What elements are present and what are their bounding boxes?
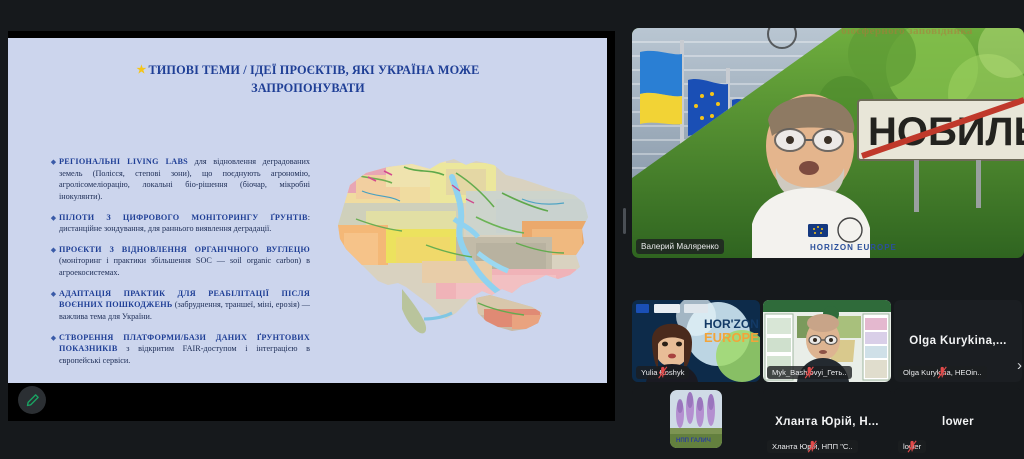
zoom-meeting-window: ★ТИПОВІ ТЕМИ / ІДЕЇ ПРОЄКТІВ, ЯКІ УКРАЇН… <box>0 0 1024 459</box>
screen-share-pane[interactable]: ★ТИПОВІ ТЕМИ / ІДЕЇ ПРОЄКТІВ, ЯКІ УКРАЇН… <box>0 0 625 459</box>
bullet-lead: ПІЛОТИ З ЦИФРОВОГО МОНІТОРИНГУ ҐРУНТІВ <box>59 213 308 222</box>
slide-title-line2: ЗАПРОПОНУВАТИ <box>251 81 365 95</box>
participant-tile-olga-kurykina[interactable]: Olga Kurykina,... Olga Kurykina, HEOin.. <box>894 300 1022 382</box>
list-item: ◆ СТВОРЕННЯ ПЛАТФОРМИ/БАЗИ ДАНИХ ҐРУНТОВ… <box>48 332 310 367</box>
presentation-slide[interactable]: ★ТИПОВІ ТЕМИ / ІДЕЇ ПРОЄКТІВ, ЯКІ УКРАЇН… <box>8 38 607 383</box>
active-speaker-name-chip: Валерий Маляренко <box>636 239 724 254</box>
active-speaker-name: Валерий Маляренко <box>641 241 719 252</box>
participant-display-name: Хланта Юрій, Н... <box>763 416 891 428</box>
participant-name-chip: Yulia Koshyk <box>636 366 689 379</box>
mic-off-icon <box>898 366 987 379</box>
participant-name-chip: Хланта Юрій, НПП "С.. <box>767 440 858 453</box>
bullet-dot-icon: ◆ <box>48 244 59 279</box>
pen-annotate-icon[interactable] <box>18 386 46 414</box>
list-item: ◆ РЕГІОНАЛЬНІ LIVING LABS для відновленн… <box>48 156 310 203</box>
bullet-dot-icon: ◆ <box>48 332 59 367</box>
active-speaker-tile[interactable]: НОБИЛЬ H <box>632 28 1024 258</box>
participant-tile-khlanta-yurii[interactable]: Хланта Юрій, Н... Хланта Юрій, НПП "С.. <box>763 388 891 456</box>
pane-divider-handle[interactable] <box>623 208 626 234</box>
chevron-right-icon[interactable]: › <box>1017 358 1022 373</box>
participant-name-chip: lower <box>898 440 926 453</box>
participant-tile-myk-bashtovyi[interactable]: Myk_Bashtovyi_Геть.. <box>763 300 891 382</box>
slide-bullet-list: ◆ РЕГІОНАЛЬНІ LIVING LABS для відновленн… <box>48 156 310 376</box>
list-item: ◆ АДАПТАЦІЯ ПРАКТИК ДЛЯ РЕАБІЛІТАЦІЇ ПІС… <box>48 288 310 323</box>
bullet-dot-icon: ◆ <box>48 212 59 235</box>
bullet-rest: (моніторинг і практики збільшення SOC — … <box>59 256 310 277</box>
mic-off-icon <box>636 366 689 379</box>
mic-off-icon <box>767 366 852 379</box>
participant-tile-lower[interactable]: lower lower <box>894 388 1022 456</box>
bullet-lead: ПРОЄКТИ З ВІДНОВЛЕННЯ ОРГАНІЧНОГО ВУГЛЕЦ… <box>59 245 310 254</box>
slide-title: ★ТИПОВІ ТЕМИ / ІДЕЇ ПРОЄКТІВ, ЯКІ УКРАЇН… <box>52 62 564 98</box>
participant-tile-connecting-audio[interactable]: НПП ГАЛИЧ <box>632 388 760 456</box>
avatar: НПП ГАЛИЧ <box>670 390 722 448</box>
bullet-dot-icon: ◆ <box>48 288 59 323</box>
mic-off-icon <box>898 440 926 453</box>
participant-tile-yulia-koshyk[interactable]: HOR'ZON EUROPE Yulia Koshyk <box>632 300 760 382</box>
ukraine-soil-map-image <box>326 133 598 348</box>
speaker-background-overlay-text: біосферного заповідника <box>792 28 1022 37</box>
participant-display-name: lower <box>894 416 1022 428</box>
bullet-dot-icon: ◆ <box>48 156 59 203</box>
list-item: ◆ ПРОЄКТИ З ВІДНОВЛЕННЯ ОРГАНІЧНОГО ВУГЛ… <box>48 244 310 279</box>
video-participants-pane: НОБИЛЬ H <box>630 0 1024 459</box>
list-item: ◆ ПІЛОТИ З ЦИФРОВОГО МОНІТОРИНГУ ҐРУНТІВ… <box>48 212 310 235</box>
slide-title-line1: ТИПОВІ ТЕМИ / ІДЕЇ ПРОЄКТІВ, ЯКІ УКРАЇНА… <box>148 63 479 77</box>
svg-text:HORIZON EUROPE: HORIZON EUROPE <box>810 243 897 252</box>
svg-text:EUROPE: EUROPE <box>704 330 759 345</box>
participant-name-chip: Olga Kurykina, HEOin.. <box>898 366 987 379</box>
participant-name-chip: Myk_Bashtovyi_Геть.. <box>767 366 852 379</box>
participant-display-name: Olga Kurykina,... <box>894 335 1022 347</box>
svg-text:НПП ГАЛИЧ: НПП ГАЛИЧ <box>676 438 711 444</box>
star-icon: ★ <box>137 63 147 79</box>
svg-text:HOR'ZON: HOR'ZON <box>704 317 759 331</box>
mic-off-icon <box>767 440 858 453</box>
bullet-lead: РЕГІОНАЛЬНІ LIVING LABS <box>59 157 188 166</box>
